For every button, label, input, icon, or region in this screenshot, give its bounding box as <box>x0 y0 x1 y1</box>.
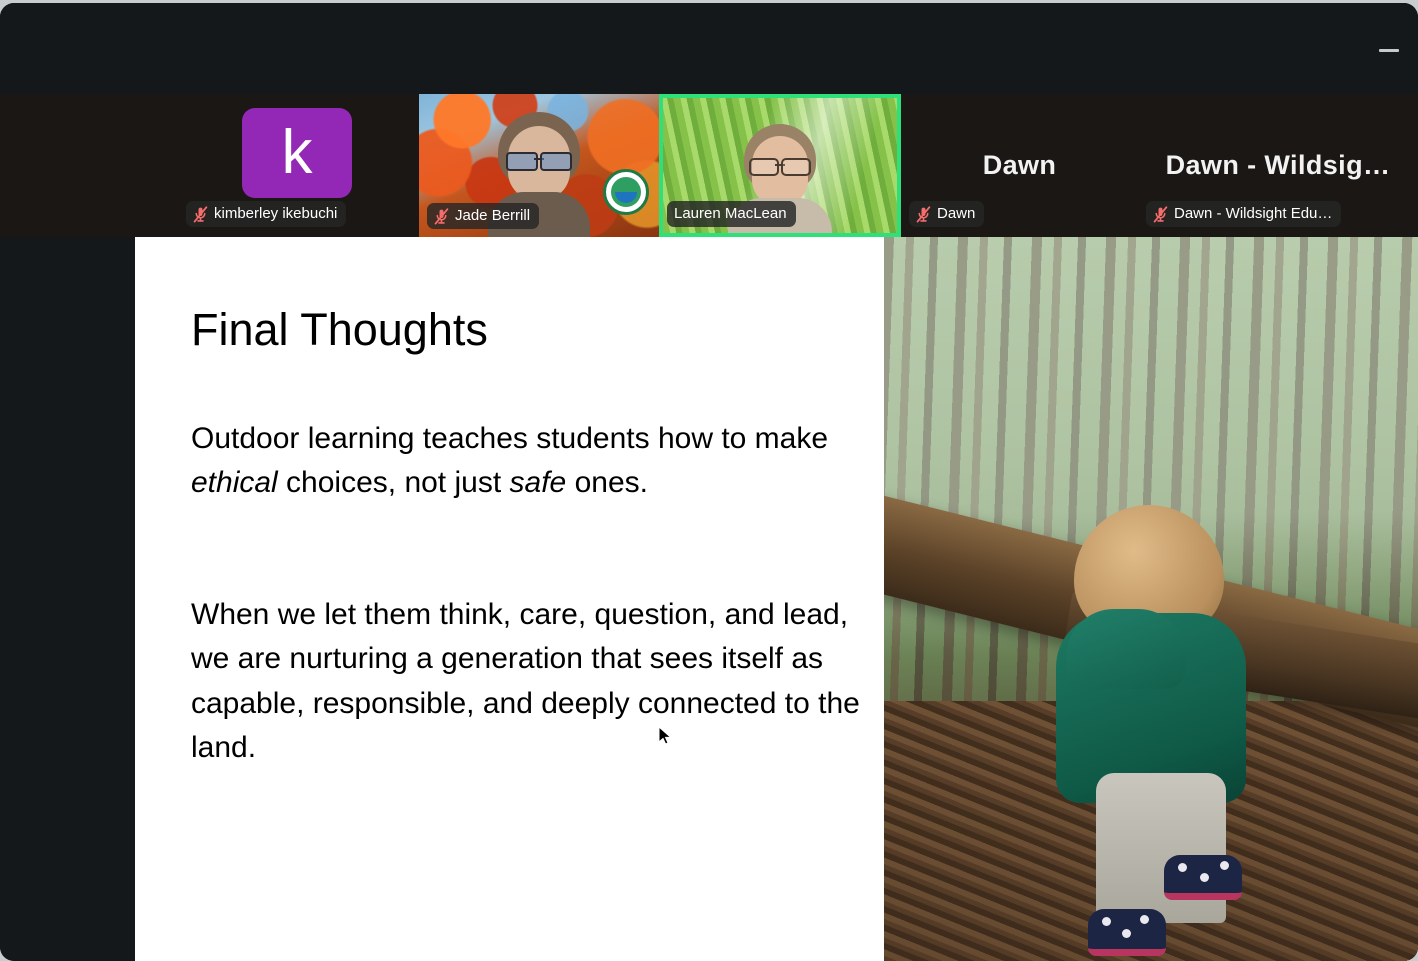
presentation-slide: Final Thoughts Outdoor learning teaches … <box>135 237 1418 961</box>
participant-name-badge: Lauren MacLean <box>667 201 796 227</box>
participant-filmstrip[interactable]: k kimberley ikebuchi <box>0 94 1418 237</box>
slide-paragraph-2: When we let them think, care, question, … <box>191 593 871 771</box>
participant-name-badge: kimberley ikebuchi <box>186 201 346 227</box>
slide-title: Final Thoughts <box>191 307 488 352</box>
mic-muted-icon <box>193 206 208 223</box>
participant-tile-dawn-wildsight[interactable]: Dawn - Wildsig… Dawn - Wildsight Edu… <box>1138 94 1418 237</box>
participant-display-name: Dawn <box>901 150 1138 181</box>
minimize-button[interactable] <box>1378 39 1400 61</box>
participant-name-badge: Dawn <box>909 201 984 227</box>
participant-name: kimberley ikebuchi <box>214 201 337 227</box>
zoom-meeting-window: k kimberley ikebuchi <box>0 3 1418 961</box>
child-figure <box>1052 505 1262 905</box>
participant-name: Dawn - Wildsight Edu… <box>1174 201 1332 227</box>
participant-name: Lauren MacLean <box>674 201 787 227</box>
avatar: k <box>242 108 352 198</box>
mic-muted-icon <box>916 206 931 223</box>
emphasized-word: safe <box>510 466 567 499</box>
participant-name: Dawn <box>937 201 975 227</box>
window-titlebar <box>0 3 1418 94</box>
slide-photo <box>884 237 1418 961</box>
participant-display-name: Dawn - Wildsig… <box>1138 150 1418 181</box>
screen: k kimberley ikebuchi <box>0 0 1418 961</box>
mic-muted-icon <box>434 208 449 225</box>
mic-muted-icon <box>1153 206 1168 223</box>
participant-tile-jade-berrill[interactable]: Jade Berrill <box>419 94 659 237</box>
participant-name: Jade Berrill <box>455 203 530 229</box>
text-run: ones. <box>566 466 648 499</box>
slide-paragraph-1: Outdoor learning teaches students how to… <box>191 417 871 506</box>
outdoor-learning-logo-icon <box>603 169 649 215</box>
emphasized-word: ethical <box>191 466 278 499</box>
participant-tile-dawn[interactable]: Dawn Dawn <box>901 94 1138 237</box>
window-controls <box>1298 3 1418 94</box>
text-run: Outdoor learning teaches students how to… <box>191 422 828 455</box>
shared-screen-stage: Final Thoughts Outdoor learning teaches … <box>0 237 1418 961</box>
participant-name-badge: Dawn - Wildsight Edu… <box>1146 201 1341 227</box>
text-run: choices, not just <box>278 466 510 499</box>
participant-tile-lauren-maclean[interactable]: Lauren MacLean <box>659 94 901 237</box>
participant-name-badge: Jade Berrill <box>427 203 539 229</box>
participant-tile-kimberley-ikebuchi[interactable]: k kimberley ikebuchi <box>180 94 385 237</box>
